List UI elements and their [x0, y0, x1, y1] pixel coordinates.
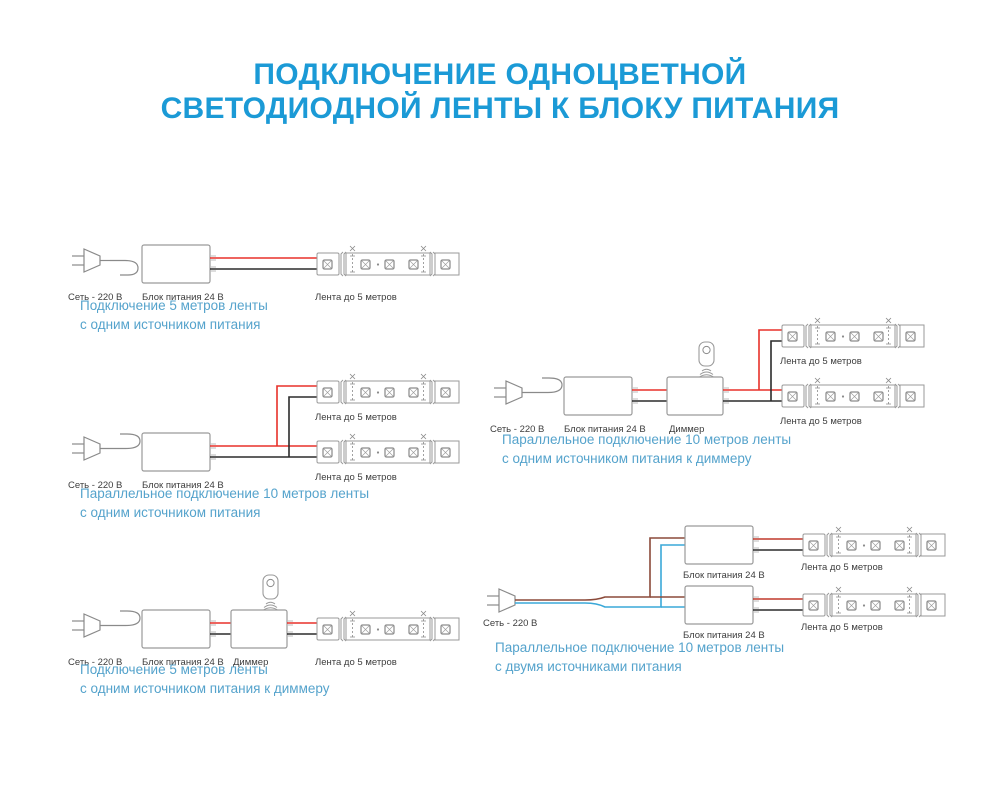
caption-single-psu-5m-dimmer: Подключение 5 метров ленты с одним источ… — [80, 660, 440, 698]
power-supply-unit — [564, 377, 638, 415]
power-supply-unit — [685, 586, 759, 624]
dimmer-unit — [667, 377, 729, 415]
led-strip — [803, 527, 945, 557]
mains-plug-icon — [487, 589, 515, 612]
diagram-parallel-10m-single-psu-dimmer: Лента до 5 метров Сеть - 220 В Блок пита… — [492, 320, 1000, 430]
power-supply-unit — [142, 245, 216, 283]
wire-positive — [723, 330, 782, 390]
led-strip — [317, 374, 459, 404]
label-mains: Сеть - 220 В — [483, 618, 537, 629]
led-strip — [803, 587, 945, 617]
diagram-parallel-10m-single-psu: Лента до 5 метров Сеть - 220 В Блок пита… — [70, 368, 490, 488]
mains-plug-icon — [72, 249, 110, 272]
led-strip — [782, 378, 924, 408]
label-strip: Лента до 5 метров — [780, 416, 862, 427]
caption-parallel-10m-single-psu: Параллельное подключение 10 метров ленты… — [80, 484, 440, 522]
diagram-single-psu-5m: Сеть - 220 В Блок питания 24 В Лента до … — [70, 240, 490, 290]
remote-control-icon — [262, 575, 279, 611]
wire-positive — [210, 386, 317, 446]
caption-single-psu-5m: Подключение 5 метров ленты с одним источ… — [80, 296, 420, 334]
wire-mains-brown — [515, 538, 685, 600]
label-psu: Блок питания 24 В — [683, 570, 765, 581]
label-strip: Лента до 5 метров — [315, 412, 397, 423]
label-strip: Лента до 5 метров — [801, 622, 883, 633]
page-title-line-2: СВЕТОДИОДНОЙ ЛЕНТЫ К БЛОКУ ПИТАНИЯ — [0, 92, 1000, 126]
caption-parallel-10m-single-psu-dimmer: Параллельное подключение 10 метров ленты… — [502, 430, 882, 468]
remote-control-icon — [698, 342, 715, 378]
mains-cord — [522, 378, 562, 393]
label-strip: Лента до 5 метров — [780, 356, 862, 367]
power-supply-unit — [685, 526, 759, 564]
led-strip — [782, 318, 924, 348]
label-strip: Лента до 5 метров — [315, 472, 397, 483]
power-supply-unit — [142, 433, 216, 471]
diagram-single-psu-5m-dimmer: Сеть - 220 В Блок питания 24 В Диммер Ле… — [70, 575, 490, 655]
dimmer-unit — [231, 610, 293, 648]
mains-cord — [100, 434, 140, 449]
page-title: ПОДКЛЮЧЕНИЕ ОДНОЦВЕТНОЙ СВЕТОДИОДНОЙ ЛЕН… — [0, 58, 1000, 126]
caption-parallel-10m-two-psu: Параллельное подключение 10 метров ленты… — [495, 638, 875, 676]
diagram-parallel-10m-two-psu: Лента до 5 метров Блок питания 24 В Сеть… — [485, 518, 1000, 643]
page-title-line-1: ПОДКЛЮЧЕНИЕ ОДНОЦВЕТНОЙ — [0, 58, 1000, 92]
led-strip — [317, 246, 459, 276]
mains-plug-icon — [494, 381, 522, 404]
label-strip: Лента до 5 метров — [801, 562, 883, 573]
led-strip — [317, 611, 459, 641]
mains-cord — [110, 261, 138, 276]
mains-plug-icon — [72, 614, 100, 637]
wire-negative — [210, 397, 317, 457]
mains-cord — [100, 611, 140, 626]
mains-plug-icon — [72, 437, 100, 460]
led-strip — [317, 434, 459, 464]
power-supply-unit — [142, 610, 216, 648]
wire-negative — [723, 341, 782, 401]
